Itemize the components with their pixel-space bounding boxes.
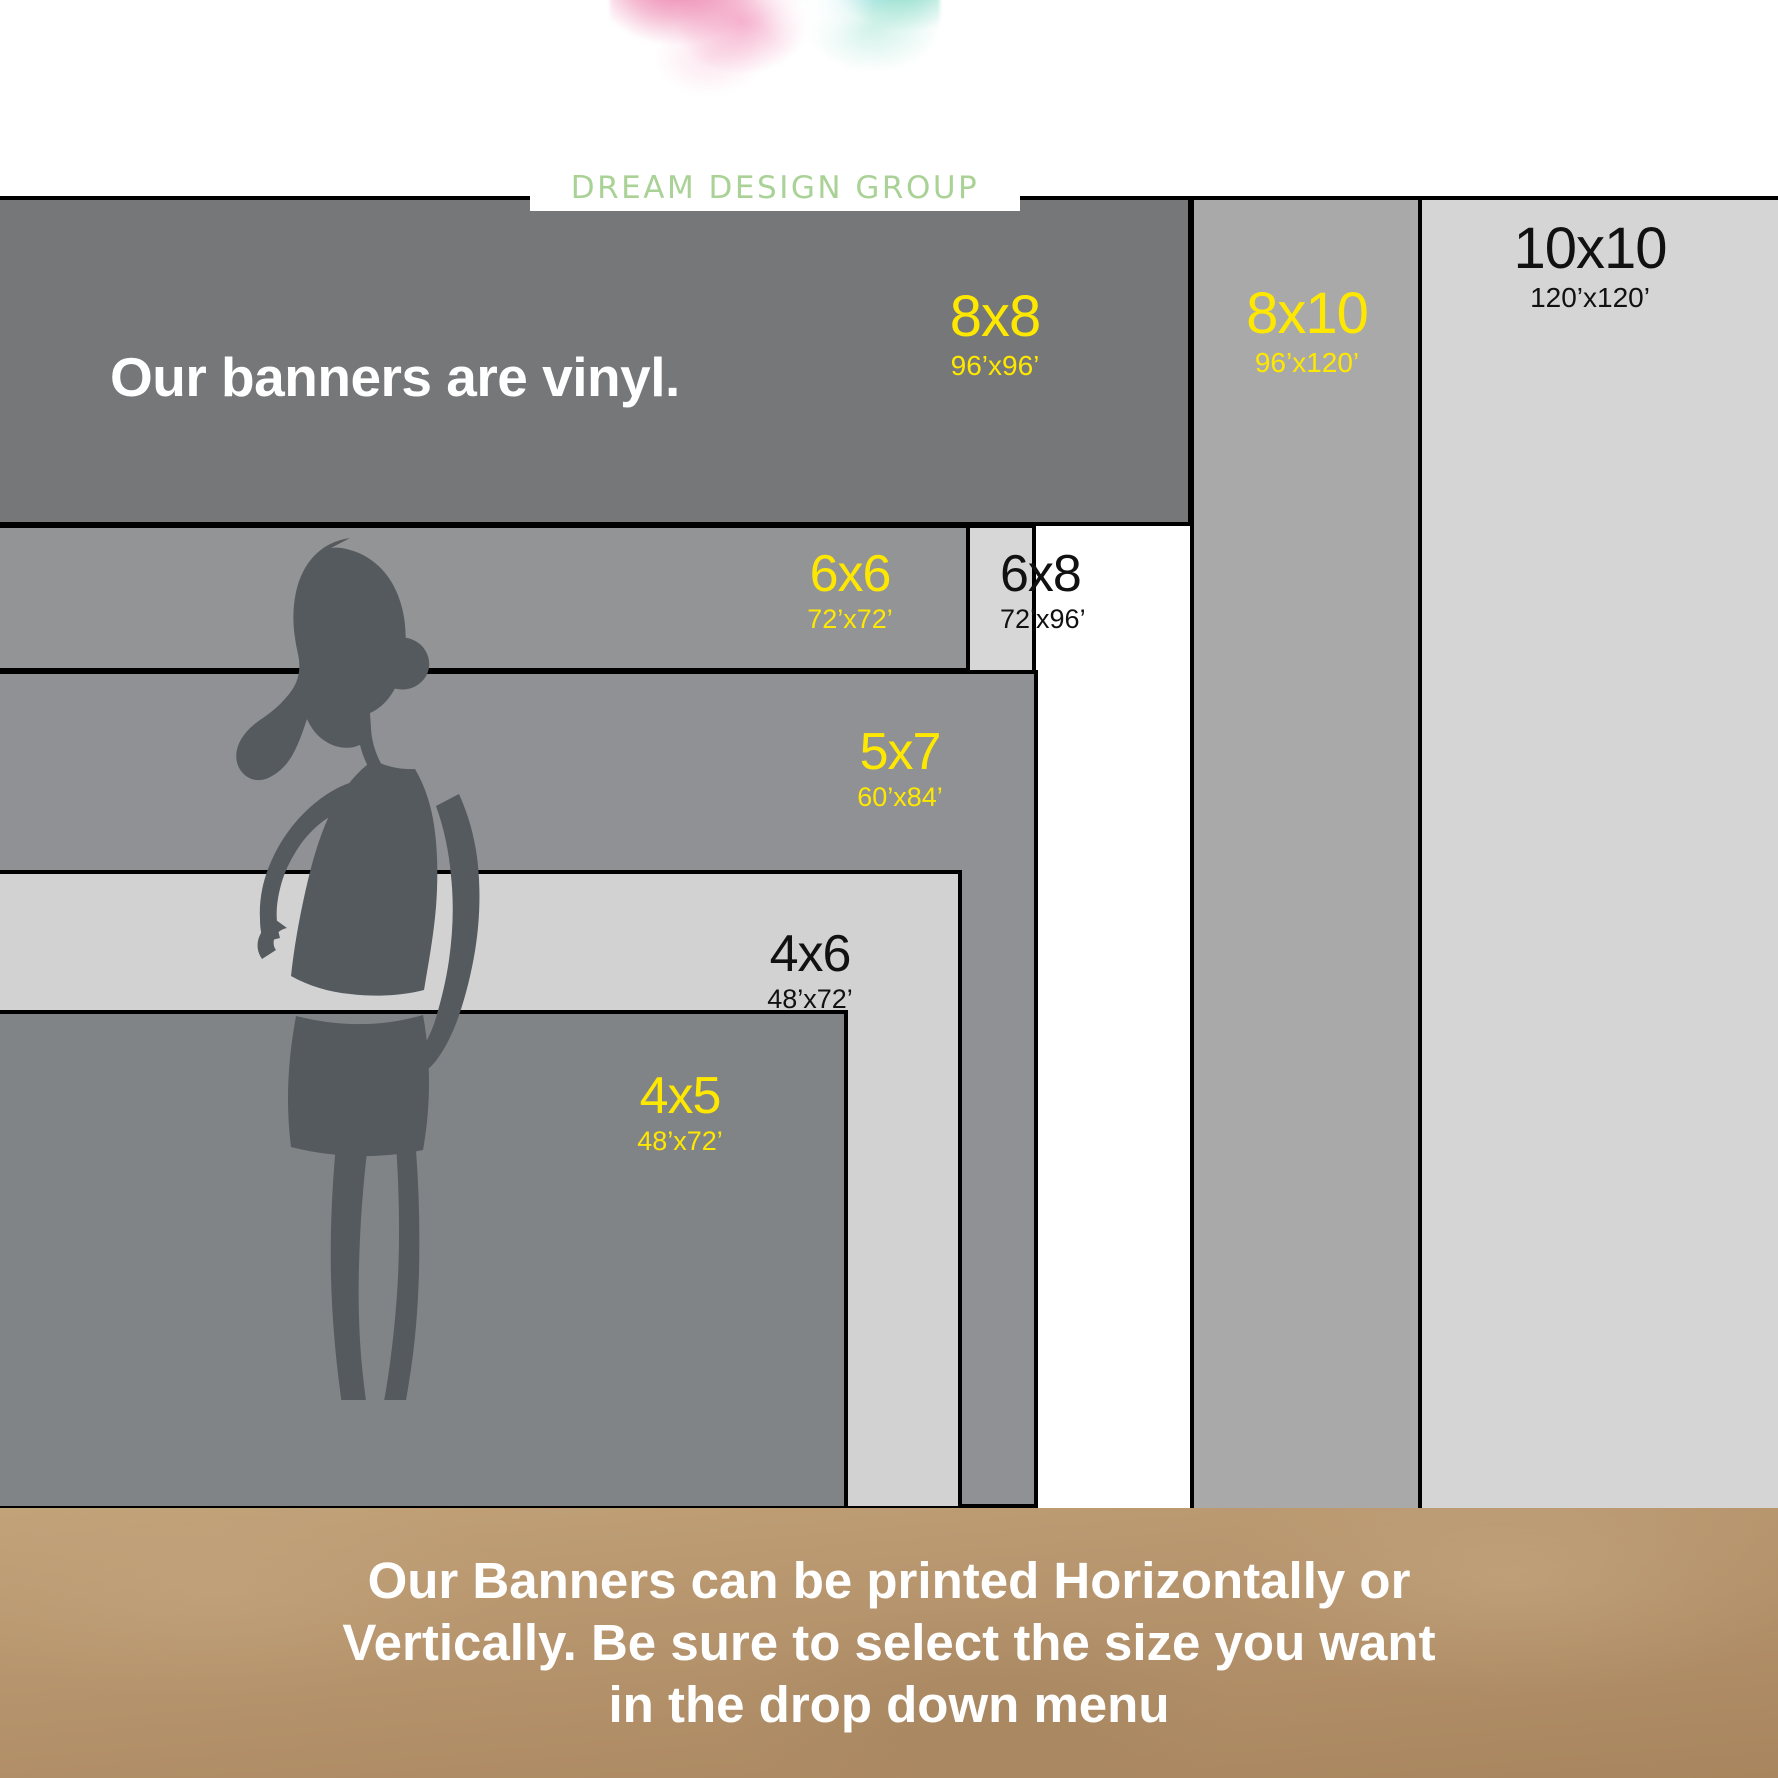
banner-dimensions-6x8: 72’x96’ [1000,606,1180,633]
banner-label-6x8: 6x8 72’x96’ [1000,548,1180,633]
banner-dimensions-8x10: 96’x120’ [1192,349,1422,377]
banner-dimensions-10x10: 120’x120’ [1440,284,1740,312]
banner-label-8x8: 8x8 96’x96’ [880,288,1110,380]
banner-label-4x5: 4x5 48’x72’ [570,1070,790,1155]
footer-message: Our Banners can be printed Horizontally … [0,1508,1778,1778]
banner-size-comparison-chart: Our banners are vinyl. DREAM DESIGN GROU… [0,0,1778,1778]
banner-rect-8x10[interactable] [1190,196,1422,1514]
banner-dimensions-4x5: 48’x72’ [570,1128,790,1155]
banner-size-4x5: 4x5 [570,1070,790,1122]
banner-label-5x7: 5x7 60’x84’ [790,726,1010,811]
banner-rect-10x10[interactable] [1383,196,1778,1526]
logo-name: DREAM DESIGN GROUP [571,170,980,206]
brand-logo: DREAM DESIGN GROUP [610,0,940,210]
banner-size-8x8: 8x8 [880,288,1110,346]
footer-line-2: Vertically. Be sure to select the size y… [342,1612,1435,1674]
footer-banner: Our Banners can be printed Horizontally … [0,1508,1778,1778]
footer-line-3: in the drop down menu [609,1674,1170,1736]
banner-dimensions-8x8: 96’x96’ [880,352,1110,380]
banner-label-8x10: 8x10 96’x120’ [1192,285,1422,377]
banner-size-8x10: 8x10 [1192,285,1422,343]
banner-dimensions-6x6: 72’x72’ [730,606,970,633]
watercolor-splash-icon [610,0,940,105]
banner-label-10x10: 10x10 120’x120’ [1440,220,1740,312]
banner-size-6x8: 6x8 [1000,548,1180,600]
banner-size-5x7: 5x7 [790,726,1010,778]
footer-line-1: Our Banners can be printed Horizontally … [368,1550,1411,1612]
banner-size-4x6: 4x6 [700,928,920,980]
woman-silhouette-icon [200,520,560,1400]
banner-label-6x6: 6x6 72’x72’ [730,548,970,633]
banner-label-4x6: 4x6 48’x72’ [700,928,920,1013]
page-title: Our banners are vinyl. [110,345,680,409]
banner-size-10x10: 10x10 [1440,220,1740,278]
banner-dimensions-4x6: 48’x72’ [700,986,920,1013]
banner-size-6x6: 6x6 [730,548,970,600]
banner-dimensions-5x7: 60’x84’ [790,784,1010,811]
logo-name-band: DREAM DESIGN GROUP [530,165,1020,211]
